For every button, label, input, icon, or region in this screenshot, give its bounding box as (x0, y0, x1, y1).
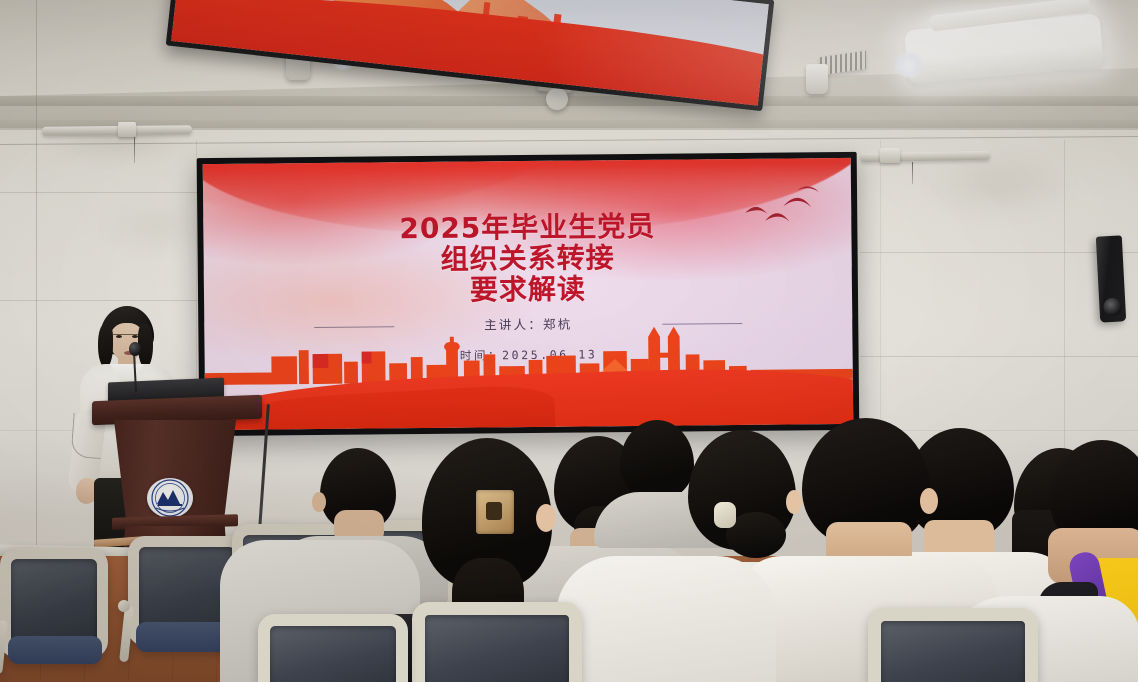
auditorium-seat[interactable] (258, 614, 408, 682)
wall-seam (860, 356, 1138, 357)
wall-joint (880, 140, 881, 440)
hair-clip (714, 502, 736, 528)
auditorium-seat[interactable] (412, 602, 582, 682)
hanging-cable (134, 137, 135, 163)
slide-title: 2025年毕业生党员 组织关系转接 要求解读 (203, 208, 852, 308)
presenter-eye-right (132, 335, 138, 338)
ceiling-soffit-edge (0, 96, 1138, 106)
seat-armrest-knob (118, 600, 130, 612)
wall-corner-line (36, 0, 37, 556)
seat-cushion (8, 636, 102, 664)
attendee-ear (920, 488, 938, 514)
seat-back (868, 608, 1038, 682)
hair-clip-center (486, 502, 502, 520)
hanging-cable (912, 162, 913, 184)
ceiling-downlight (892, 52, 926, 78)
university-crest-icon (147, 478, 193, 518)
wall-seam (0, 300, 200, 301)
wall-seam (0, 192, 200, 193)
auditorium-seat[interactable] (0, 548, 108, 658)
projector-mount (806, 64, 828, 94)
speaker-cone-icon (1103, 298, 1122, 317)
wall-mounted-speaker (1096, 235, 1126, 322)
microphone-icon[interactable] (129, 342, 141, 356)
presenter-hair-left (98, 324, 113, 368)
auditorium-seat[interactable] (868, 608, 1038, 682)
ceiling-conduit (42, 125, 192, 136)
conduit-junction-box (880, 148, 900, 163)
attendee-shirt (556, 556, 776, 682)
audience-member (556, 556, 776, 682)
crest-svg (147, 478, 193, 518)
main-led-screen[interactable]: 2025年毕业生党员 组织关系转接 要求解读 主讲人：郑杭 时间：2025.06… (197, 152, 860, 436)
presenter-eye-left (116, 335, 122, 338)
seat-back (412, 602, 582, 682)
conduit-junction-box (118, 122, 136, 137)
presentation-slide: 2025年毕业生党员 组织关系转接 要求解读 主讲人：郑杭 时间：2025.06… (203, 158, 854, 430)
ceiling-camera (546, 88, 568, 110)
seat-back (258, 614, 408, 682)
lecture-hall-photo: 2025年毕业生党员 组织关系转接 要求解读 主讲人：郑杭 时间：2025.06… (0, 0, 1138, 682)
attendee-ear (536, 504, 556, 532)
